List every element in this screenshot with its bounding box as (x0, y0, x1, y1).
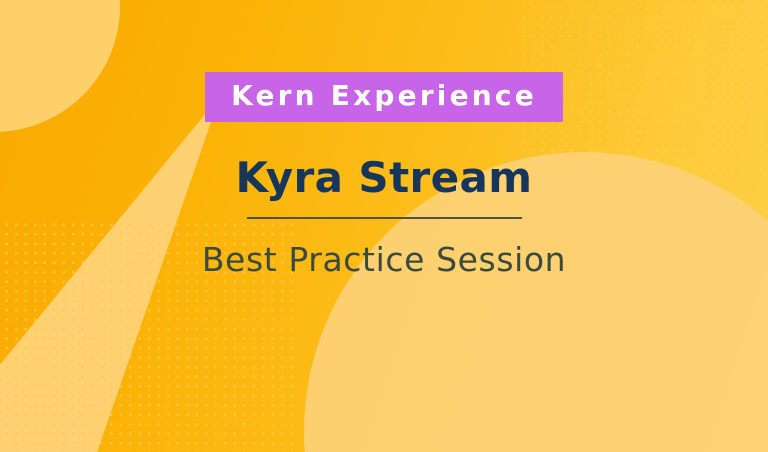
title-divider (247, 217, 522, 219)
page-subtitle: Best Practice Session (202, 219, 566, 278)
promo-banner: Kern Experience Kyra Stream Best Practic… (0, 0, 768, 452)
eyebrow-badge: Kern Experience (205, 72, 563, 122)
eyebrow-label: Kern Experience (231, 82, 537, 110)
page-title: Kyra Stream (236, 122, 533, 200)
banner-content: Kern Experience Kyra Stream Best Practic… (0, 0, 768, 452)
